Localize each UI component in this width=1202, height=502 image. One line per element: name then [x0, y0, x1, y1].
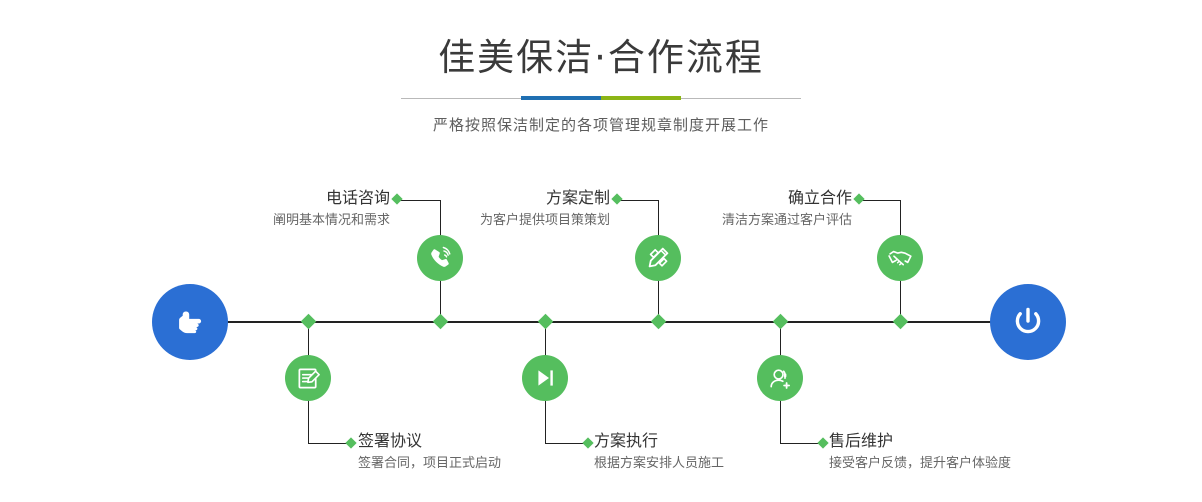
timeline-marker-step-2 — [301, 314, 317, 330]
label-marker-step-2 — [345, 437, 356, 448]
label-desc-step-6: 接受客户反馈，提升客户体验度 — [829, 454, 1099, 474]
document-pen-icon — [296, 366, 321, 391]
timeline-marker-step-3 — [651, 314, 667, 330]
label-desc-step-2: 签署合同，项目正式启动 — [358, 454, 618, 474]
timeline-marker-step-5 — [893, 314, 909, 330]
timeline-finish-node[interactable] — [990, 284, 1066, 360]
pencil-ruler-icon — [645, 245, 671, 271]
phone-call-icon — [427, 245, 454, 272]
timeline: 电话咨询 阐明基本情况和需求 签署协议 签署合同，项目正式启动 — [0, 0, 1202, 502]
connector-horizontal-step-2 — [308, 443, 350, 444]
timeline-marker-step-4 — [538, 314, 554, 330]
connector-horizontal-step-5 — [860, 200, 900, 201]
label-step-2: 签署协议 签署合同，项目正式启动 — [358, 431, 618, 474]
label-desc-step-1: 阐明基本情况和需求 — [148, 211, 390, 231]
play-execute-icon — [532, 365, 558, 391]
label-desc-step-3: 为客户提供项目策策划 — [368, 211, 610, 231]
flowchart-page: 佳美保洁·合作流程 严格按照保洁制定的各项管理规章制度开展工作 — [0, 0, 1202, 502]
label-title-step-4: 方案执行 — [594, 431, 854, 451]
label-title-step-2: 签署协议 — [358, 431, 618, 451]
pointing-hand-icon — [170, 302, 210, 342]
headset-support-icon — [767, 365, 793, 391]
node-icon-step-3[interactable] — [635, 235, 681, 281]
timeline-start-node[interactable] — [152, 284, 228, 360]
label-step-5: 确立合作 清洁方案通过客户评估 — [610, 188, 852, 231]
node-icon-step-6[interactable] — [757, 355, 803, 401]
label-title-step-6: 售后维护 — [829, 431, 1099, 451]
node-icon-step-2[interactable] — [285, 355, 331, 401]
node-icon-step-5[interactable] — [877, 235, 923, 281]
label-step-6: 售后维护 接受客户反馈，提升客户体验度 — [829, 431, 1099, 474]
label-desc-step-4: 根据方案安排人员施工 — [594, 454, 854, 474]
handshake-icon — [887, 245, 914, 272]
node-icon-step-4[interactable] — [522, 355, 568, 401]
node-icon-step-1[interactable] — [417, 235, 463, 281]
label-marker-step-5 — [853, 193, 864, 204]
power-button-icon — [1007, 301, 1049, 343]
label-step-3: 方案定制 为客户提供项目策策划 — [368, 188, 610, 231]
label-step-1: 电话咨询 阐明基本情况和需求 — [148, 188, 390, 231]
label-step-4: 方案执行 根据方案安排人员施工 — [594, 431, 854, 474]
label-title-step-3: 方案定制 — [368, 188, 610, 208]
label-title-step-1: 电话咨询 — [148, 188, 390, 208]
label-title-step-5: 确立合作 — [610, 188, 852, 208]
label-desc-step-5: 清洁方案通过客户评估 — [610, 211, 852, 231]
timeline-marker-step-6 — [773, 314, 789, 330]
timeline-marker-step-1 — [433, 314, 449, 330]
